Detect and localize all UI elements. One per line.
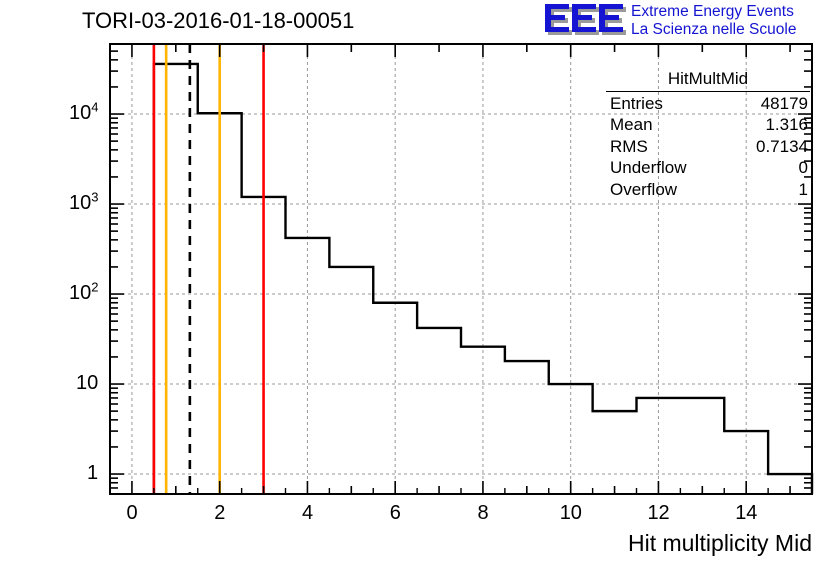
stats-row-entries: Entries 48179 [604,93,812,115]
stats-key-overflow: Overflow [610,179,677,201]
stats-key-entries: Entries [610,93,663,115]
page-title: TORI-03-2016-01-18-00051 [82,8,354,34]
stats-row-rms: RMS 0.7134 [604,136,812,158]
eee-logo-line2: La Scienza nelle Scuole [631,21,796,39]
stats-row-mean: Mean 1.316 [604,114,812,136]
stats-key-underflow: Underflow [610,157,687,179]
eee-logo: Extreme Energy Events La Scienza nelle S… [543,2,833,42]
eee-logo-mark [543,3,627,39]
eee-logo-text: Extreme Energy Events La Scienza nelle S… [631,3,796,39]
y-axis-tick-label: 104 [69,102,98,125]
stats-box-title: HitMultMid [604,68,812,91]
stats-key-mean: Mean [610,114,653,136]
y-axis-tick-label: 102 [69,282,98,305]
stats-value-mean: 1.316 [765,114,808,136]
y-axis-tick-label: 103 [69,192,98,215]
x-axis-tick-label: 0 [126,502,137,525]
stats-row-overflow: Overflow 1 [604,179,812,201]
stats-box: HitMultMid Entries 48179 Mean 1.316 RMS … [604,68,812,200]
stats-row-underflow: Underflow 0 [604,157,812,179]
stats-value-underflow: 0 [799,157,808,179]
x-axis-tick-label: 4 [302,502,313,525]
stats-value-rms: 0.7134 [756,136,808,158]
root-canvas: TORI-03-2016-01-18-00051 [0,0,836,572]
stats-box-divider [606,91,810,92]
x-axis-tick-label: 2 [214,502,225,525]
x-axis-tick-label: 8 [477,502,488,525]
x-axis-tick-label: 10 [560,502,582,525]
eee-logo-line1: Extreme Energy Events [631,3,796,21]
stats-value-overflow: 1 [799,179,808,201]
y-axis-tick-label: 10 [76,372,98,395]
stats-value-entries: 48179 [761,93,808,115]
stats-key-rms: RMS [610,136,648,158]
x-axis-tick-label: 12 [647,502,669,525]
x-axis-tick-label: 6 [390,502,401,525]
x-axis-tick-label: 14 [735,502,757,525]
y-axis-tick-label: 1 [87,462,98,485]
x-axis-title: Hit multiplicity Mid [628,530,812,557]
